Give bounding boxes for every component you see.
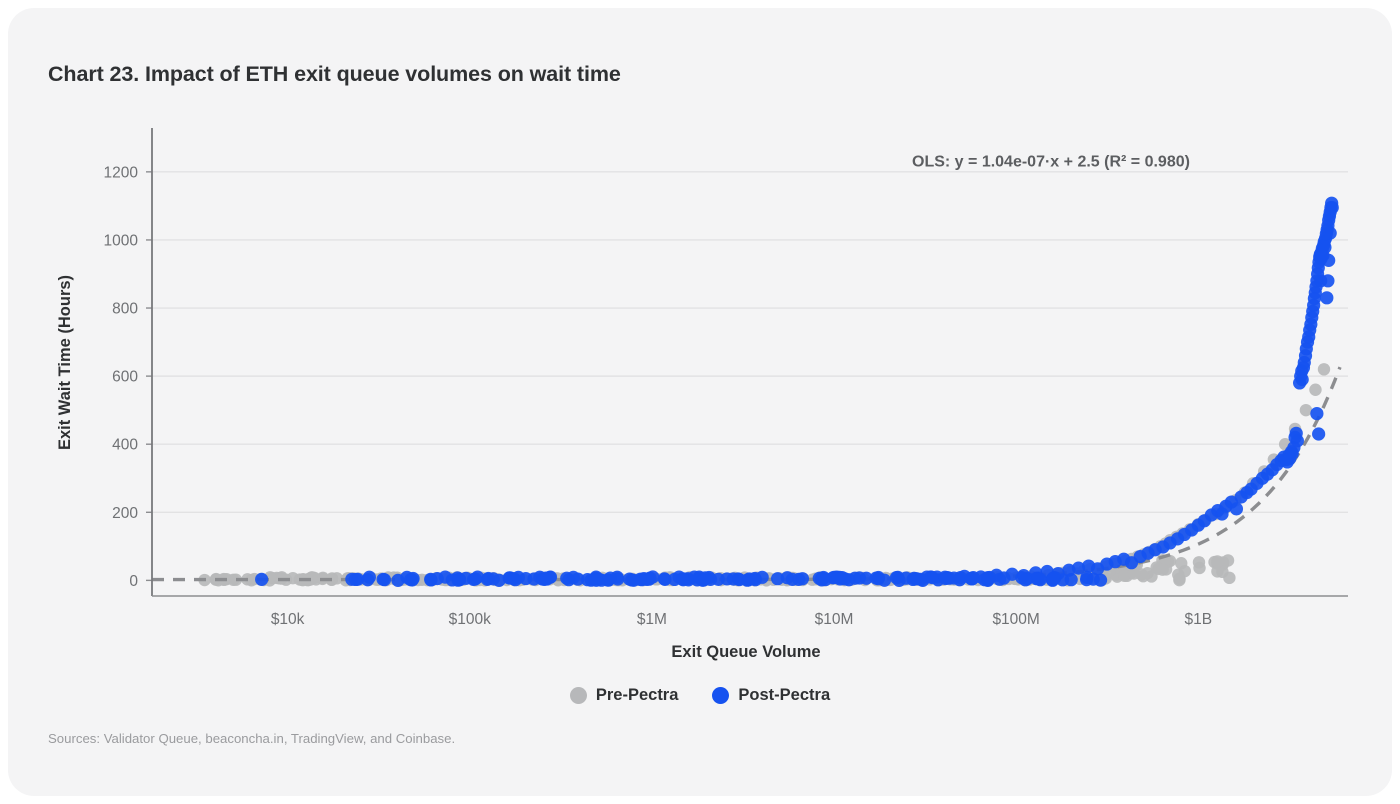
legend-label: Pre-Pectra [596, 686, 679, 705]
data-point [926, 571, 939, 584]
x-tick-label: $10M [815, 611, 854, 628]
data-point [634, 573, 647, 586]
data-point [658, 572, 671, 585]
data-point [733, 573, 746, 586]
data-point [720, 572, 733, 585]
data-point [377, 573, 390, 586]
x-tick-label: $1M [637, 611, 667, 628]
data-point [567, 571, 580, 584]
data-point [1318, 363, 1330, 375]
data-point [836, 571, 849, 584]
chart-card: Chart 23. Impact of ETH exit queue volum… [8, 8, 1392, 796]
x-axis-ticks: $10k$100k$1M$10M$100M$1B [271, 611, 1212, 628]
data-point [1281, 455, 1294, 468]
data-point [966, 572, 979, 585]
data-point [1320, 291, 1333, 304]
data-point [676, 572, 689, 585]
data-point [1300, 404, 1312, 416]
data-point [997, 571, 1010, 584]
data-point [1211, 555, 1223, 567]
series-post-pectra [255, 197, 1339, 587]
legend-item-pre-pectra[interactable]: Pre-Pectra [570, 686, 679, 705]
data-point [585, 574, 598, 587]
data-point [1314, 274, 1327, 287]
data-point [699, 571, 712, 584]
data-point [1296, 373, 1309, 386]
data-point [914, 573, 927, 586]
sources-note: Sources: Validator Queue, beaconcha.in, … [48, 731, 455, 746]
data-point [400, 571, 413, 584]
data-point [1094, 574, 1107, 587]
data-point [1324, 227, 1337, 240]
data-point [1326, 201, 1339, 214]
data-point [1030, 572, 1043, 585]
x-axis-label: Exit Queue Volume [671, 643, 820, 661]
data-point [469, 572, 482, 585]
x-tick-label: $1B [1184, 611, 1212, 628]
data-point [872, 571, 885, 584]
axis-spines [152, 128, 1348, 596]
data-point [819, 573, 832, 586]
data-point [939, 572, 952, 585]
data-point [431, 572, 444, 585]
data-point [512, 571, 525, 584]
data-point [527, 572, 540, 585]
data-point [453, 573, 466, 586]
data-point [604, 571, 617, 584]
y-axis-label: Exit Wait Time (Hours) [56, 275, 74, 450]
data-point [1230, 502, 1243, 515]
legend-label: Post-Pectra [738, 686, 830, 705]
y-tick-label: 400 [112, 437, 138, 454]
y-tick-label: 0 [129, 573, 138, 590]
y-tick-label: 1000 [104, 232, 139, 249]
y-tick-label: 600 [112, 369, 138, 386]
data-point [1309, 384, 1321, 396]
data-point [1019, 573, 1032, 586]
data-point [255, 573, 268, 586]
data-point [361, 573, 374, 586]
data-point [1047, 573, 1060, 586]
data-point [349, 573, 362, 586]
data-point [1065, 573, 1078, 586]
data-point [953, 573, 966, 586]
data-point [893, 574, 906, 587]
data-point [1080, 571, 1093, 584]
y-tick-label: 800 [112, 301, 138, 318]
legend: Pre-Pectra Post-Pectra [8, 686, 1392, 705]
y-tick-label: 1200 [104, 164, 139, 181]
legend-dot-icon [712, 687, 729, 704]
data-point [781, 571, 794, 584]
x-tick-label: $10k [271, 611, 305, 628]
data-point [1310, 407, 1323, 420]
data-point [544, 570, 557, 583]
data-point [1322, 254, 1335, 267]
data-point [1291, 434, 1304, 447]
y-tick-label: 200 [112, 505, 138, 522]
data-point [1128, 567, 1140, 579]
legend-dot-icon [570, 687, 587, 704]
x-tick-label: $100k [449, 611, 491, 628]
gridlines [152, 172, 1348, 581]
data-point [1193, 556, 1205, 568]
data-point [983, 571, 996, 584]
data-point [796, 572, 809, 585]
scatter-plot: 020040060080010001200 $10k$100k$1M$10M$1… [8, 8, 1392, 796]
ols-annotation: OLS: y = 1.04e-07·x + 2.5 (R² = 0.980) [912, 154, 1190, 171]
data-point [1223, 572, 1235, 584]
legend-item-post-pectra[interactable]: Post-Pectra [712, 686, 830, 705]
y-axis-ticks: 020040060080010001200 [104, 164, 152, 590]
data-point [1156, 563, 1168, 575]
data-point [1172, 569, 1184, 581]
data-point [1312, 427, 1325, 440]
x-tick-label: $100M [992, 611, 1039, 628]
